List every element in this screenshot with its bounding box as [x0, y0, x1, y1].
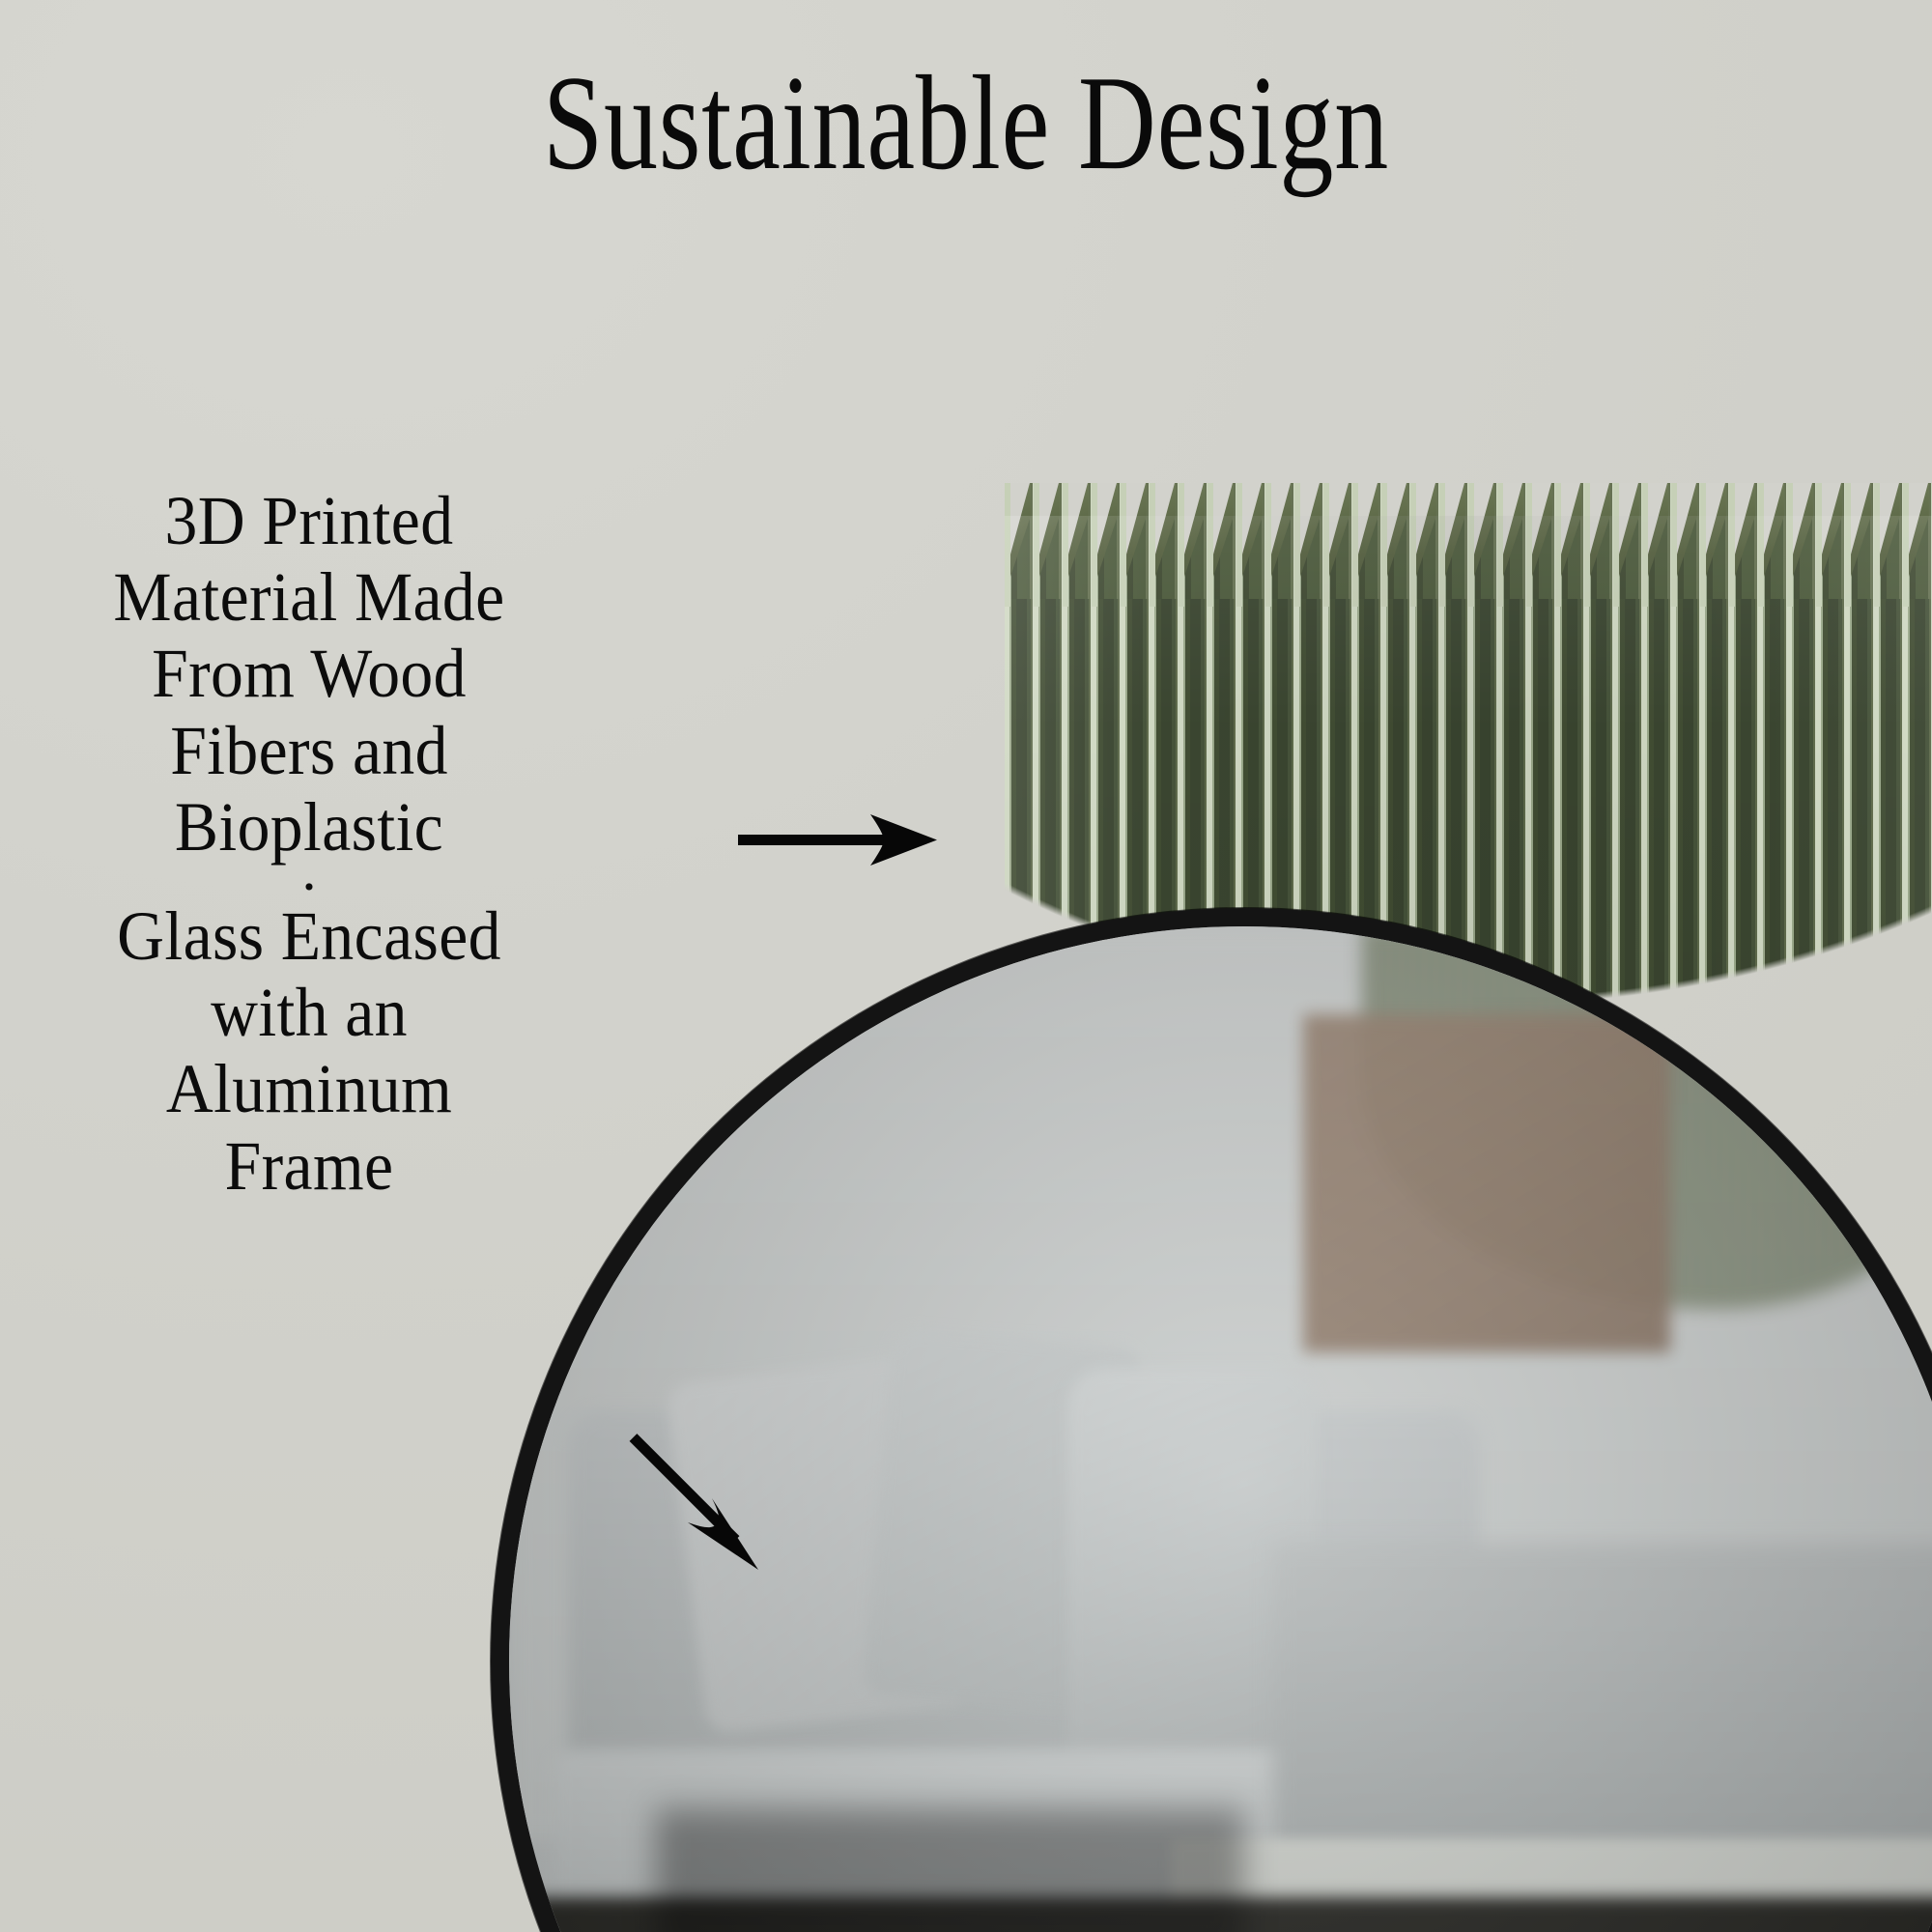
panel-fin-chamfer	[1468, 483, 1497, 607]
panel-fin-chamfer	[1294, 483, 1323, 607]
panel-fin-chamfer	[1903, 483, 1932, 607]
feature-one-text: 3D Printed Material Made From Wood Fiber…	[44, 483, 575, 866]
panel-fin-chamfer	[1323, 483, 1352, 607]
feature-two-line: Aluminum	[44, 1051, 575, 1127]
panel-fin-chamfer	[1121, 483, 1150, 607]
feature-two-text: Glass Encased with an Aluminum Frame	[44, 898, 575, 1205]
panel-fin-chamfer	[1265, 483, 1294, 607]
panel-fin-chamfer	[1642, 483, 1671, 607]
panel-fin-chamfer	[1150, 483, 1179, 607]
panel-fin-chamfers	[1005, 483, 1932, 607]
panel-fin-chamfer	[1410, 483, 1439, 607]
panel-fin-chamfer	[1816, 483, 1845, 607]
panel-fin-chamfer	[1381, 483, 1410, 607]
panel-fin-chamfer	[1092, 483, 1121, 607]
arrow-down-right-icon	[609, 1420, 802, 1613]
panel-fin-chamfer	[1613, 483, 1642, 607]
page-title: Sustainable Design	[193, 56, 1739, 191]
panel-fin-chamfer	[1526, 483, 1555, 607]
panel-fin-chamfer	[1787, 483, 1816, 607]
panel-fin-chamfer	[1700, 483, 1729, 607]
panel-fin-chamfer	[1352, 483, 1381, 607]
panel-fin-chamfer	[1236, 483, 1265, 607]
feature-one-line: Material Made	[44, 559, 575, 636]
panel-fin-chamfer	[1034, 483, 1063, 607]
feature-two-line: with an	[44, 975, 575, 1051]
poster-canvas: Sustainable Design 3D Printed Material M…	[0, 0, 1932, 1932]
panel-fin-chamfer	[1555, 483, 1584, 607]
feature-one-line: 3D Printed	[44, 483, 575, 559]
feature-two-line: Frame	[44, 1128, 575, 1205]
panel-fin-chamfer	[1845, 483, 1874, 607]
arrow-right-icon	[734, 802, 947, 889]
panel-fin-chamfer	[1671, 483, 1700, 607]
panel-fin-chamfer	[1179, 483, 1207, 607]
panel-fin-chamfer	[1758, 483, 1787, 607]
panel-fin-chamfer	[1729, 483, 1758, 607]
panel-fin-chamfer	[1497, 483, 1526, 607]
panel-fin-chamfer	[1063, 483, 1092, 607]
panel-fin-chamfer	[1005, 483, 1034, 607]
panel-fin-chamfer	[1584, 483, 1613, 607]
panel-fin-chamfer	[1207, 483, 1236, 607]
panel-fin-chamfer	[1874, 483, 1903, 607]
feature-one-line: Fibers and	[44, 713, 575, 789]
feature-one-line: From Wood	[44, 636, 575, 712]
feature-two-line: Glass Encased	[44, 898, 575, 975]
panel-fin-chamfer	[1439, 483, 1468, 607]
